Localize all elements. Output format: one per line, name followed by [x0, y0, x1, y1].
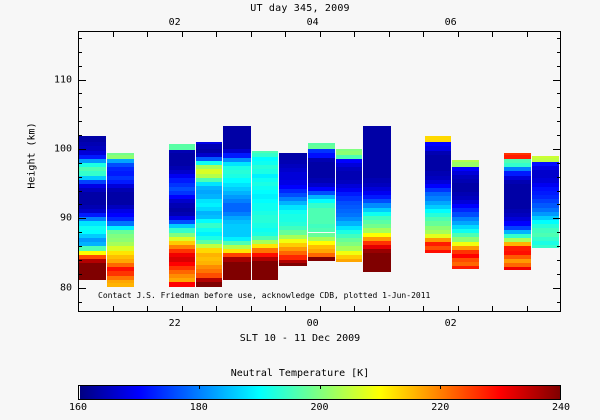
y-tick-minor-right — [557, 107, 561, 108]
x-tick-bottom — [527, 306, 528, 312]
x-tick-top — [113, 31, 114, 37]
y-tick-minor-right — [557, 93, 561, 94]
y-tick-minor-right — [557, 260, 561, 261]
y-tick-minor-right — [557, 177, 561, 178]
heatmap-column — [169, 144, 195, 288]
y-tick-minor-right — [557, 274, 561, 275]
y-tick-minor — [78, 163, 82, 164]
y-tick-minor — [78, 302, 82, 303]
colorbar-tick-label: 180 — [190, 402, 208, 413]
colorbar-tick — [320, 385, 321, 389]
x-tick-top — [78, 31, 79, 37]
heatmap-column — [107, 153, 134, 287]
heatmap-cell — [252, 273, 279, 279]
x-tick-label-bottom: 00 — [307, 318, 319, 329]
heatmap-cell — [452, 266, 479, 268]
heatmap-cell — [363, 266, 391, 272]
heatmap-column — [223, 126, 251, 279]
y-tick-minor — [78, 204, 82, 205]
colorbar-tick — [78, 385, 79, 389]
heatmap-cell — [504, 267, 531, 270]
y-tick-minor-right — [557, 52, 561, 53]
heatmap-column — [504, 153, 531, 270]
y-tick-minor-right — [557, 66, 561, 67]
credit-text: Contact J.S. Friedman before use, acknow… — [98, 291, 430, 300]
heatmap-cell — [279, 263, 307, 266]
y-tick-major-right — [553, 288, 561, 289]
heatmap-column — [196, 142, 222, 287]
y-tick-minor — [78, 66, 82, 67]
y-tick-minor-right — [557, 135, 561, 136]
x-tick-top — [492, 31, 493, 37]
y-tick-minor-right — [557, 121, 561, 122]
y-tick-major-right — [553, 149, 561, 150]
y-tick-minor-right — [557, 246, 561, 247]
x-tick-top — [423, 31, 424, 37]
y-tick-major-right — [553, 218, 561, 219]
y-tick-minor-right — [557, 302, 561, 303]
y-tick-major — [78, 80, 86, 81]
heatmap-cell — [308, 257, 335, 260]
heatmap-column — [79, 136, 106, 280]
x-tick-bottom — [389, 306, 390, 312]
x-tick-label-top: 02 — [169, 17, 181, 28]
y-tick-minor — [78, 52, 82, 53]
colorbar-tick — [199, 385, 200, 389]
y-tick-minor-right — [557, 232, 561, 233]
y-tick-minor — [78, 191, 82, 192]
x-tick-bottom — [560, 306, 561, 312]
x-tick-top — [560, 31, 561, 37]
heatmap-cell — [169, 282, 195, 287]
plot-title: UT day 345, 2009 — [0, 3, 600, 14]
y-tick-major — [78, 149, 86, 150]
heatmap-cell — [425, 250, 452, 253]
x-tick-top — [216, 31, 217, 37]
y-tick-label: 100 — [54, 143, 72, 154]
heatmap-column — [279, 153, 307, 266]
heatmap-column — [532, 156, 559, 249]
x-tick-label-top: 06 — [445, 17, 457, 28]
x-tick-bottom — [285, 306, 286, 312]
heatmap-cell — [532, 245, 559, 248]
y-tick-minor — [78, 232, 82, 233]
y-tick-major — [78, 218, 86, 219]
y-tick-minor — [78, 107, 82, 108]
y-tick-minor-right — [557, 204, 561, 205]
y-tick-minor — [78, 246, 82, 247]
heatmap-column — [252, 151, 279, 280]
x-tick-bottom — [216, 306, 217, 312]
plot-area — [78, 31, 561, 312]
heatmap-cell — [336, 259, 362, 262]
heatmap-column — [336, 149, 362, 263]
x-tick-bottom — [320, 306, 321, 312]
x-axis-label: SLT 10 - 11 Dec 2009 — [0, 333, 600, 344]
y-tick-minor-right — [557, 191, 561, 192]
y-tick-label: 80 — [60, 282, 72, 293]
colorbar-tick — [560, 385, 561, 389]
y-tick-minor — [78, 260, 82, 261]
y-tick-major-right — [553, 80, 561, 81]
heatmap-cell — [79, 276, 106, 281]
x-tick-label-top: 04 — [307, 17, 319, 28]
heatmap-cell — [196, 282, 222, 288]
x-tick-top — [182, 31, 183, 37]
x-tick-bottom — [423, 306, 424, 312]
x-tick-top — [320, 31, 321, 37]
heatmap-column — [425, 136, 452, 253]
x-tick-top — [389, 31, 390, 37]
colorbar-left-seam — [79, 386, 80, 399]
colorbar-tick — [440, 385, 441, 389]
x-tick-bottom — [113, 306, 114, 312]
x-tick-top — [251, 31, 252, 37]
x-tick-bottom — [147, 306, 148, 312]
y-tick-label: 90 — [60, 213, 72, 224]
x-tick-label-bottom: 02 — [445, 318, 457, 329]
heatmap-cell — [107, 283, 134, 286]
x-tick-bottom — [492, 306, 493, 312]
x-tick-bottom — [251, 306, 252, 312]
x-tick-bottom — [182, 306, 183, 312]
colorbar-tick-label: 240 — [552, 402, 570, 413]
y-tick-major — [78, 288, 86, 289]
heatmap-column — [452, 160, 479, 268]
colorbar-tick-label: 200 — [310, 402, 328, 413]
x-tick-top — [147, 31, 148, 37]
heatmap-cell — [223, 274, 251, 280]
heatmap-column — [363, 126, 391, 272]
x-tick-bottom — [458, 306, 459, 312]
y-tick-minor — [78, 274, 82, 275]
x-tick-top — [527, 31, 528, 37]
y-tick-minor — [78, 93, 82, 94]
y-tick-minor-right — [557, 163, 561, 164]
x-tick-bottom — [78, 306, 79, 312]
x-tick-top — [458, 31, 459, 37]
x-tick-top — [285, 31, 286, 37]
x-tick-bottom — [354, 306, 355, 312]
y-tick-minor — [78, 135, 82, 136]
y-axis-label: Height (km) — [27, 96, 38, 216]
y-tick-label: 110 — [54, 74, 72, 85]
heatmap-columns — [79, 32, 560, 311]
colorbar-tick-label: 220 — [431, 402, 449, 413]
figure-canvas: UT day 345, 2009 Height (km) SLT 10 - 11… — [0, 0, 600, 420]
colorbar-tick-label: 160 — [69, 402, 87, 413]
y-tick-minor-right — [557, 38, 561, 39]
y-tick-minor — [78, 121, 82, 122]
colorbar-title: Neutral Temperature [K] — [0, 368, 600, 379]
heatmap-column — [308, 143, 335, 261]
y-tick-minor — [78, 177, 82, 178]
y-tick-minor — [78, 38, 82, 39]
x-tick-top — [354, 31, 355, 37]
x-tick-label-bottom: 22 — [169, 318, 181, 329]
